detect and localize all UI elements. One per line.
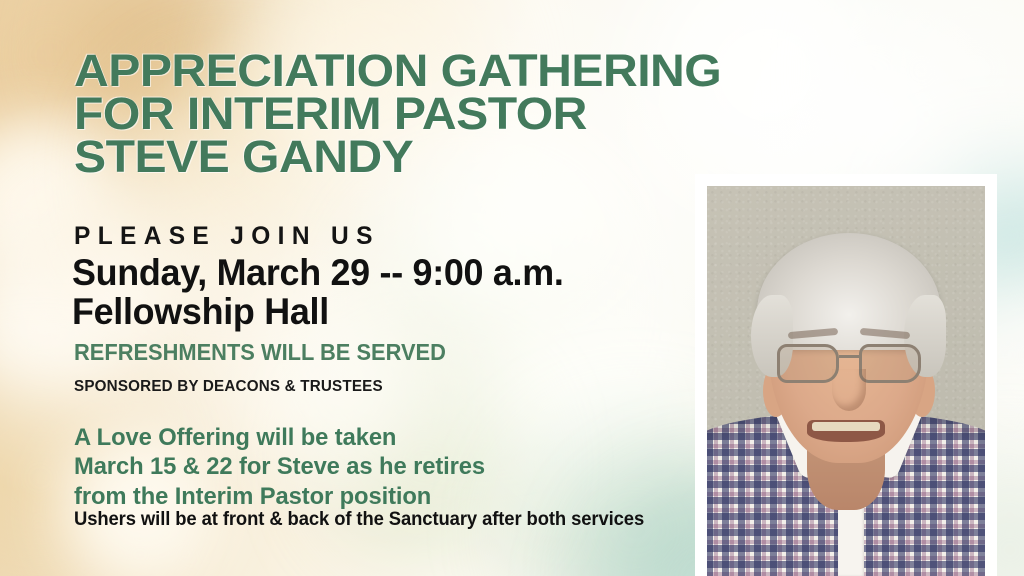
sponsor-line: SPONSORED BY DEACONS & TRUSTEES — [74, 378, 383, 396]
refreshments-note: REFRESHMENTS WILL BE SERVED — [74, 339, 446, 366]
photo-teeth — [812, 422, 880, 431]
text-column: APPRECIATION GATHERING FOR INTERIM PASTO… — [74, 0, 714, 576]
love-offering-note: A Love Offering will be taken March 15 &… — [74, 423, 708, 511]
invitation-label: PLEASE JOIN US — [74, 222, 380, 251]
page-title: APPRECIATION GATHERING FOR INTERIM PASTO… — [74, 49, 951, 179]
event-datetime-location: Sunday, March 29 -- 9:00 a.m. Fellowship… — [72, 253, 564, 331]
photo-lens-right — [859, 344, 921, 383]
photo-lens-left — [777, 344, 839, 383]
poster-canvas: APPRECIATION GATHERING FOR INTERIM PASTO… — [0, 0, 1024, 576]
avatar — [707, 186, 985, 576]
portrait-frame — [695, 174, 997, 576]
ushers-note: Ushers will be at front & back of the Sa… — [74, 509, 644, 531]
photo-glasses-bridge — [839, 355, 859, 358]
photo-mouth — [807, 420, 885, 442]
